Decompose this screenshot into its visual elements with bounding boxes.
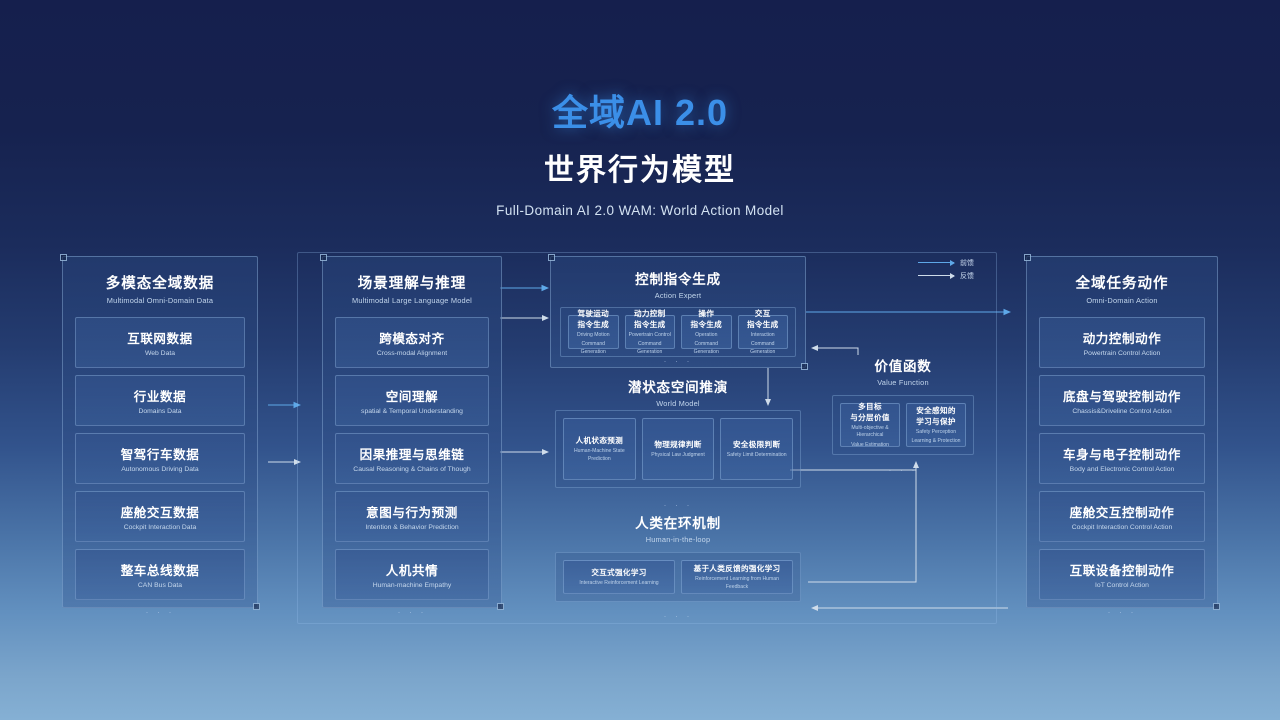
panel-action-expert[interactable]: 控制指令生成 Action Expert 驾驶运动 指令生成 Driving M… — [550, 256, 806, 368]
panel-action-expert-title-en: Action Expert — [551, 291, 805, 300]
list-item-label-en: Cross-modal Alignment — [340, 350, 484, 357]
world-model-item-label-en: Human-Machine State Prediction — [566, 448, 633, 462]
panel-human-in-the-loop[interactable]: 人类在环机制 Human-in-the-loop 交互式强化学习 Interac… — [550, 512, 806, 617]
list-item[interactable]: 行业数据 Domains Data — [75, 375, 245, 426]
list-item-label-en: Intention & Behavior Prediction — [340, 524, 484, 531]
list-item-label: 因果推理与思维链 — [340, 444, 484, 463]
list-item-label: 底盘与驾驶控制动作 — [1044, 386, 1200, 405]
list-item[interactable]: 跨模态对齐 Cross-modal Alignment — [335, 317, 489, 368]
value-function-item-label-en-2: Value Estimation — [851, 442, 889, 449]
value-function-item[interactable]: 多目标 与分层价值 Multi-objective & Hierarchical… — [840, 403, 900, 447]
action-expert-item[interactable]: 交互 指令生成 Interaction Command Generation — [738, 315, 789, 349]
list-item-label: 座舱交互控制动作 — [1044, 502, 1200, 521]
panel-omni-domain-action-title: 全域任务动作 — [1027, 272, 1217, 293]
value-function-item-label-en: Safety Perception — [916, 429, 956, 436]
action-expert-item-label-en: Operation — [695, 332, 717, 339]
panel-human-in-the-loop-title: 人类在环机制 — [550, 512, 806, 532]
list-item[interactable]: 智驾行车数据 Autonomous Driving Data — [75, 433, 245, 484]
value-function-item[interactable]: 安全感知的 学习与保护 Safety Perception Learning &… — [906, 403, 966, 447]
panel-multimodal-data-header: 多模态全域数据 Multimodal Omni-Domain Data — [63, 257, 257, 317]
panel-world-model[interactable]: 潜状态空间推演 World Model 人机状态预测 Human-Machine… — [550, 376, 806, 504]
panel-scene-reasoning-header: 场景理解与推理 Multimodal Large Language Model — [323, 257, 501, 317]
panel-multimodal-data-title: 多模态全域数据 — [63, 272, 257, 293]
value-function-item-label: 安全感知的 — [916, 405, 955, 416]
list-item[interactable]: 因果推理与思维链 Causal Reasoning & Chains of Th… — [335, 433, 489, 484]
list-item-label: 行业数据 — [80, 386, 240, 405]
human-loop-item-label-en: Reinforcement Learning from Human Feedba… — [684, 576, 790, 590]
value-function-item-label-2: 与分层价值 — [850, 412, 889, 423]
panel-world-model-title: 潜状态空间推演 — [550, 376, 806, 396]
more-indicator: · · · — [550, 611, 806, 621]
panel-omni-domain-action[interactable]: 全域任务动作 Omni-Domain Action 动力控制动作 Powertr… — [1026, 256, 1218, 608]
list-item[interactable]: 互联设备控制动作 IoT Control Action — [1039, 549, 1205, 600]
list-item-label-en: IoT Control Action — [1044, 582, 1200, 589]
legend-feedforward-label: 前馈 — [960, 258, 974, 268]
list-item-label-en: CAN Bus Data — [80, 582, 240, 589]
legend-arrow-feedforward-icon — [918, 262, 954, 263]
more-indicator: · · · — [1027, 607, 1217, 617]
list-item-label-en: Powertrain Control Action — [1044, 350, 1200, 357]
action-expert-item-label-en: Driving Motion — [577, 332, 610, 339]
world-model-items: 人机状态预测 Human-Machine State Prediction 物理… — [555, 410, 801, 488]
panel-value-function[interactable]: 价值函数 Value Function 多目标 与分层价值 Multi-obje… — [832, 355, 974, 473]
more-indicator: · · · — [323, 607, 501, 617]
legend-arrow-feedback-icon — [918, 275, 954, 276]
panel-scene-reasoning-title-en: Multimodal Large Language Model — [323, 296, 501, 305]
action-expert-item[interactable]: 驾驶运动 指令生成 Driving Motion Command Generat… — [568, 315, 619, 349]
architecture-diagram: 前馈 反馈 多模态全域数据 Multimodal Omni-Domain Dat… — [0, 0, 1280, 720]
list-item-label-en: Autonomous Driving Data — [80, 466, 240, 473]
list-item-label-en: Domains Data — [80, 408, 240, 415]
more-indicator: · · · — [63, 607, 257, 617]
list-item-label: 互联设备控制动作 — [1044, 560, 1200, 579]
panel-omni-domain-action-header: 全域任务动作 Omni-Domain Action — [1027, 257, 1217, 317]
list-item-label-en: Human-machine Empathy — [340, 582, 484, 589]
action-expert-item-label: 交互 — [755, 308, 771, 319]
human-loop-item-label: 基于人类反馈的强化学习 — [694, 563, 781, 574]
action-expert-item-label-en-2: Command Generation — [571, 341, 616, 355]
human-loop-items: 交互式强化学习 Interactive Reinforcement Learni… — [555, 552, 801, 602]
list-item[interactable]: 底盘与驾驶控制动作 Chassis&Driveline Control Acti… — [1039, 375, 1205, 426]
list-item-label: 跨模态对齐 — [340, 328, 484, 347]
panel-scene-reasoning[interactable]: 场景理解与推理 Multimodal Large Language Model … — [322, 256, 502, 608]
list-item-label-en: Cockpit Interaction Data — [80, 524, 240, 531]
list-item-label: 整车总线数据 — [80, 560, 240, 579]
list-item[interactable]: 车身与电子控制动作 Body and Electronic Control Ac… — [1039, 433, 1205, 484]
list-item[interactable]: 意图与行为预测 Intention & Behavior Prediction — [335, 491, 489, 542]
panel-value-function-title-en: Value Function — [832, 378, 974, 387]
world-model-item-label-en: Safety Limit Determination — [727, 452, 787, 459]
value-function-item-label-en: Multi-objective & Hierarchical — [843, 425, 897, 439]
list-item-label: 动力控制动作 — [1044, 328, 1200, 347]
panel-multimodal-data[interactable]: 多模态全域数据 Multimodal Omni-Domain Data 互联网数… — [62, 256, 258, 608]
list-item[interactable]: 座舱交互控制动作 Cockpit Interaction Control Act… — [1039, 491, 1205, 542]
action-expert-item-label-en: Interaction — [751, 332, 775, 339]
legend-feedback-label: 反馈 — [960, 271, 974, 281]
list-item[interactable]: 整车总线数据 CAN Bus Data — [75, 549, 245, 600]
action-expert-item-label: 操作 — [698, 308, 714, 319]
list-item-label-en: Causal Reasoning & Chains of Though — [340, 466, 484, 473]
world-model-item[interactable]: 物理规律判断 Physical Law Judgment — [642, 418, 715, 480]
world-model-item[interactable]: 安全极限判断 Safety Limit Determination — [720, 418, 793, 480]
value-function-items: 多目标 与分层价值 Multi-objective & Hierarchical… — [832, 395, 974, 455]
list-item[interactable]: 空间理解 spatial & Temporal Understanding — [335, 375, 489, 426]
action-expert-item-label-en-2: Command Generation — [628, 341, 673, 355]
panel-value-function-title: 价值函数 — [832, 355, 974, 375]
list-item-label-en: Body and Electronic Control Action — [1044, 466, 1200, 473]
action-expert-item-label-en: Powertrain Control — [629, 332, 671, 339]
list-item[interactable]: 动力控制动作 Powertrain Control Action — [1039, 317, 1205, 368]
action-expert-item[interactable]: 操作 指令生成 Operation Command Generation — [681, 315, 732, 349]
legend-feedback: 反馈 — [918, 269, 974, 282]
more-indicator: · · · — [550, 500, 806, 510]
value-function-item-label-2: 学习与保护 — [916, 416, 955, 427]
legend-feedforward: 前馈 — [918, 256, 974, 269]
world-model-item-label: 人机状态预测 — [576, 435, 623, 446]
more-indicator: · · · — [551, 356, 805, 366]
action-expert-item-label: 驾驶运动 — [577, 308, 609, 319]
value-function-item-label-en-2: Learning & Protection — [912, 438, 961, 445]
list-item-label: 互联网数据 — [80, 328, 240, 347]
action-expert-item-label-en-2: Command Generation — [741, 341, 786, 355]
human-loop-item-label-en: Interactive Reinforcement Learning — [579, 580, 658, 587]
list-item-label: 座舱交互数据 — [80, 502, 240, 521]
world-model-item-label: 物理规律判断 — [654, 439, 701, 450]
action-expert-item-label-2: 指令生成 — [634, 319, 666, 330]
panel-human-in-the-loop-title-en: Human-in-the-loop — [550, 535, 806, 544]
world-model-item-label: 安全极限判断 — [733, 439, 780, 450]
panel-world-model-title-en: World Model — [550, 399, 806, 408]
panel-action-expert-title: 控制指令生成 — [551, 268, 805, 288]
list-item[interactable]: 人机共情 Human-machine Empathy — [335, 549, 489, 600]
list-item-label-en: Cockpit Interaction Control Action — [1044, 524, 1200, 531]
more-indicator: · · · — [832, 465, 974, 475]
human-loop-item-label: 交互式强化学习 — [591, 567, 646, 578]
list-item-label: 智驾行车数据 — [80, 444, 240, 463]
panel-scene-reasoning-title: 场景理解与推理 — [323, 272, 501, 293]
action-expert-item-label: 动力控制 — [634, 308, 666, 319]
action-expert-item-label-2: 指令生成 — [577, 319, 609, 330]
legend: 前馈 反馈 — [918, 256, 974, 282]
human-loop-item[interactable]: 基于人类反馈的强化学习 Reinforcement Learning from … — [681, 560, 793, 594]
list-item-label-en: Web Data — [80, 350, 240, 357]
list-item[interactable]: 座舱交互数据 Cockpit Interaction Data — [75, 491, 245, 542]
action-expert-items: 驾驶运动 指令生成 Driving Motion Command Generat… — [560, 307, 796, 357]
value-function-item-label: 多目标 — [858, 401, 882, 412]
list-item-label-en: spatial & Temporal Understanding — [340, 408, 484, 415]
list-item-label: 车身与电子控制动作 — [1044, 444, 1200, 463]
action-expert-item[interactable]: 动力控制 指令生成 Powertrain Control Command Gen… — [625, 315, 676, 349]
action-expert-item-label-en-2: Command Generation — [684, 341, 729, 355]
action-expert-item-label-2: 指令生成 — [690, 319, 722, 330]
panel-multimodal-data-title-en: Multimodal Omni-Domain Data — [63, 296, 257, 305]
list-item-label: 空间理解 — [340, 386, 484, 405]
list-item-label: 人机共情 — [340, 560, 484, 579]
human-loop-item[interactable]: 交互式强化学习 Interactive Reinforcement Learni… — [563, 560, 675, 594]
list-item-label: 意图与行为预测 — [340, 502, 484, 521]
action-expert-item-label-2: 指令生成 — [747, 319, 779, 330]
list-item-label-en: Chassis&Driveline Control Action — [1044, 408, 1200, 415]
list-item[interactable]: 互联网数据 Web Data — [75, 317, 245, 368]
panel-omni-domain-action-title-en: Omni-Domain Action — [1027, 296, 1217, 305]
world-model-item-label-en: Physical Law Judgment — [651, 452, 705, 459]
world-model-item[interactable]: 人机状态预测 Human-Machine State Prediction — [563, 418, 636, 480]
